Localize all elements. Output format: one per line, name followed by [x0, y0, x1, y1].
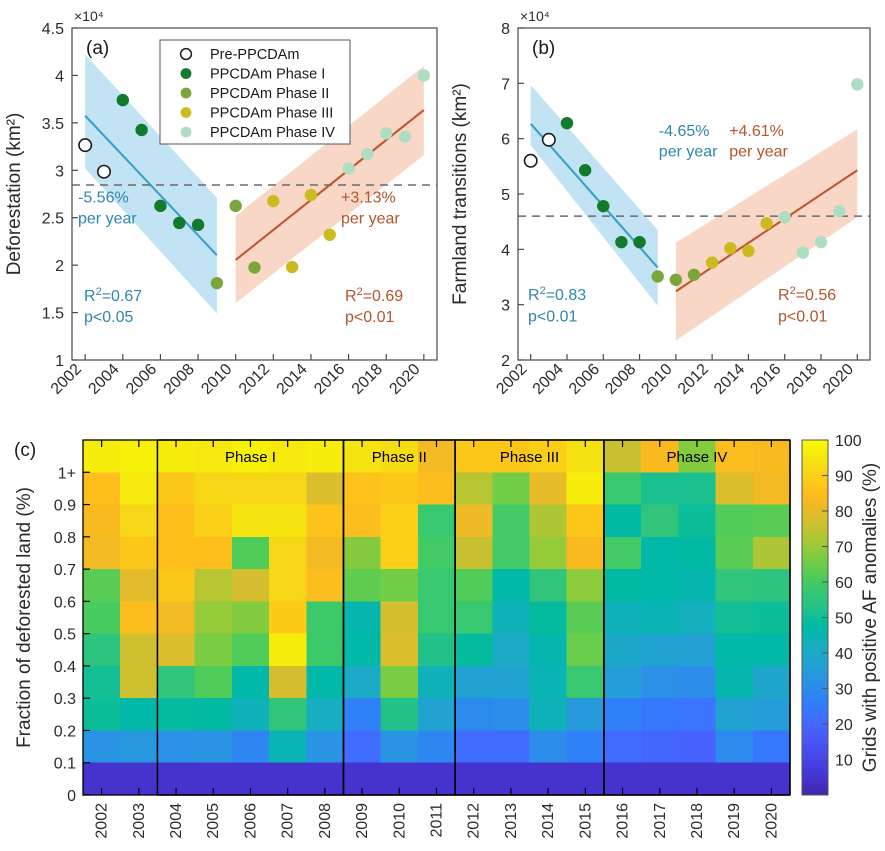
x-tick-label: 2014 [711, 361, 748, 398]
heatmap-cell [83, 472, 121, 505]
phase-label-2: Phase III [500, 449, 559, 466]
panel-c: Phase IPhase IIPhase IIIPhase IV1+0.90.8… [14, 433, 881, 839]
x-tick-label: 2014 [540, 803, 557, 839]
legend-label-0: Pre-PPCDAm [210, 47, 299, 63]
heatmap-cell [753, 537, 791, 570]
x-tick-label: 2009 [354, 803, 371, 839]
heatmap-cell [604, 472, 642, 505]
x-tick-label: 2005 [205, 803, 222, 839]
data-point [579, 164, 591, 176]
x-tick-label: 2007 [280, 803, 297, 839]
heatmap-cell [641, 634, 679, 667]
y-tick-label: 0.6 [54, 594, 76, 611]
x-tick-label: 2006 [242, 803, 259, 839]
heatmap-cell [567, 601, 605, 634]
colorbar-tick-label: 60 [835, 575, 853, 592]
x-tick-label: 2018 [349, 361, 386, 398]
x-tick-label: 2020 [820, 361, 857, 398]
r2-rising: R2=0.56 [778, 285, 836, 304]
heatmap-cell [83, 505, 121, 538]
legend-marker-0[interactable] [181, 49, 192, 60]
heatmap-cell [157, 666, 195, 699]
heatmap-cell [678, 601, 716, 634]
heatmap-cell [269, 537, 307, 570]
heatmap-cell [418, 569, 456, 602]
heatmap-cell [604, 698, 642, 731]
heatmap-cell [120, 698, 158, 731]
heatmap-cell [492, 537, 530, 570]
heatmap-cell [530, 569, 568, 602]
heatmap-cell [232, 569, 270, 602]
heatmap-cell [604, 634, 642, 667]
heatmap-cell [83, 666, 121, 699]
heatmap-cell [641, 537, 679, 570]
legend-box: Pre-PPCDAmPPCDAm Phase IPPCDAm Phase IIP… [160, 40, 350, 144]
x-tick-label: 2003 [131, 803, 148, 839]
data-point [851, 78, 863, 90]
heatmap-cell [716, 634, 754, 667]
heatmap-cell [753, 472, 791, 505]
heatmap-cell [343, 698, 381, 731]
heatmap-cell [716, 666, 754, 699]
heatmap-cell [604, 666, 642, 699]
heatmap-cell [716, 472, 754, 505]
heatmap-cell [232, 537, 270, 570]
heatmap-cell [343, 634, 381, 667]
heatmap-cell [678, 537, 716, 570]
heatmap-cell [120, 730, 158, 763]
data-point [286, 261, 298, 273]
phase-label-3: Phase IV [667, 449, 728, 466]
heatmap-cell [306, 569, 344, 602]
data-point [192, 219, 204, 231]
panel-b: 2345678200220042006200820102012201420162… [450, 8, 870, 398]
heatmap-cell [492, 698, 530, 731]
data-point [724, 242, 736, 254]
heatmap-cell [195, 666, 233, 699]
heatmap-cell [492, 634, 530, 667]
heatmap-cell [381, 634, 419, 667]
heatmap-cell [157, 698, 195, 731]
heatmap-cell [157, 537, 195, 570]
x-tick-label: 2002 [94, 803, 111, 839]
data-point [670, 274, 682, 286]
y-axis-title-c: Fraction of deforested land (%) [14, 487, 35, 748]
heatmap-cell [195, 537, 233, 570]
heatmap-cell [120, 666, 158, 699]
heatmap-cell [455, 472, 493, 505]
heatmap-cell [269, 730, 307, 763]
heatmap-cell [678, 730, 716, 763]
heatmap-cell [381, 601, 419, 634]
data-point [211, 277, 223, 289]
heatmap-cell [195, 472, 233, 505]
legend-label-3: PPCDAm Phase III [210, 106, 333, 122]
data-point [135, 124, 147, 136]
panel-label-panel-b: (b) [532, 38, 555, 59]
phase-label-0: Phase I [225, 449, 276, 466]
heatmap-cell [120, 505, 158, 538]
heatmap-cell [306, 537, 344, 570]
data-point [173, 217, 185, 229]
heatmap-cell [343, 601, 381, 634]
heatmap-cell [604, 601, 642, 634]
colorbar: 102030405060708090100Grids with positive… [802, 433, 881, 796]
heatmap-cell [157, 601, 195, 634]
p-declining: p<0.05 [84, 309, 133, 326]
y-axis-title: Farmland transitions (km²) [450, 83, 471, 305]
legend-label-1: PPCDAm Phase I [210, 67, 325, 83]
legend-label-4: PPCDAm Phase IV [210, 125, 335, 141]
heatmap-cell [567, 472, 605, 505]
x-tick-label: 2019 [726, 803, 743, 839]
heatmap-cell [604, 505, 642, 538]
panel-label-panel-c: (c) [14, 440, 36, 461]
x-tick-label: 2010 [198, 361, 235, 398]
y-tick-label: 8 [501, 21, 510, 38]
heatmap-cell [157, 634, 195, 667]
heatmap-cell [455, 730, 493, 763]
heatmap-cell [716, 601, 754, 634]
data-point [543, 134, 555, 146]
heatmap-cell [641, 698, 679, 731]
rate-label-declining: -5.56% [78, 190, 129, 207]
y-axis-title: Deforestation (km²) [4, 113, 25, 276]
heatmap-cell [157, 730, 195, 763]
heatmap-cell [83, 730, 121, 763]
heatmap-cell [641, 666, 679, 699]
heatmap-cell [232, 472, 270, 505]
x-tick-label: 2012 [236, 361, 273, 398]
heatmap-cell [195, 569, 233, 602]
heatmap-cell [455, 601, 493, 634]
y-tick-label: 2 [55, 258, 64, 275]
colorbar-tick-label: 20 [835, 717, 853, 734]
heatmap-cell [269, 505, 307, 538]
heatmap-cell [157, 505, 195, 538]
x-tick-label: 2016 [311, 361, 348, 398]
heatmap-cell [492, 505, 530, 538]
heatmap-cell [306, 730, 344, 763]
x-tick-label: 2004 [530, 361, 567, 398]
x-tick-label: 2008 [161, 361, 198, 398]
data-point [597, 200, 609, 212]
heatmap-cell [306, 505, 344, 538]
x-tick-label: 2020 [763, 803, 780, 839]
x-tick-label: 2006 [566, 361, 603, 398]
heatmap-cell [753, 505, 791, 538]
heatmap-cell [418, 666, 456, 699]
heatmap-cell [269, 472, 307, 505]
x-tick-label: 2006 [123, 361, 160, 398]
rate-label-declining: -4.65% [659, 123, 710, 140]
heatmap-cell [716, 698, 754, 731]
heatmap-cell [604, 730, 642, 763]
p-rising: p<0.01 [345, 309, 394, 326]
heatmap-cell [753, 634, 791, 667]
rate-unit-rising: per year [729, 143, 788, 160]
heatmap-cell [641, 730, 679, 763]
legend-marker-2[interactable] [181, 88, 192, 99]
heatmap-cell [753, 569, 791, 602]
heatmap-cell [381, 472, 419, 505]
heatmap-cell [269, 666, 307, 699]
heatmap-cell [455, 505, 493, 538]
heatmap-cell [641, 505, 679, 538]
heatmap-cell [306, 698, 344, 731]
rate-unit-declining: per year [659, 143, 718, 160]
y-tick-label: 0.8 [54, 530, 76, 547]
x-tick-label: 2013 [503, 803, 520, 839]
heatmap-cell [269, 601, 307, 634]
data-point [380, 127, 392, 139]
heatmap-cells [83, 440, 791, 796]
heatmap-cell [604, 537, 642, 570]
heatmap-cell [381, 537, 419, 570]
heatmap-cell [232, 634, 270, 667]
data-point [797, 246, 809, 258]
y-tick-label: 0.7 [54, 562, 76, 579]
x-tick-label: 2012 [466, 803, 483, 839]
heatmap-cell [492, 730, 530, 763]
x-tick-label: 2008 [602, 361, 639, 398]
data-point [267, 195, 279, 207]
y-tick-label: 3 [501, 298, 510, 315]
y-tick-label: 1+ [58, 465, 76, 482]
heatmap-cell [455, 698, 493, 731]
heatmap-cell [418, 505, 456, 538]
data-point [79, 139, 91, 151]
colorbar-title: Grids with positive AF anomalies (%) [860, 463, 881, 772]
heatmap-cell [530, 666, 568, 699]
heatmap-cell [269, 634, 307, 667]
y-tick-label: 4.5 [42, 21, 64, 38]
heatmap-cell [530, 601, 568, 634]
colorbar-tick-label: 30 [835, 682, 853, 699]
heatmap-cell [530, 505, 568, 538]
heatmap-cell [269, 569, 307, 602]
heatmap-cell [120, 601, 158, 634]
x-tick-label: 2016 [747, 361, 784, 398]
x-tick-label: 2011 [429, 803, 446, 838]
heatmap-cell [381, 666, 419, 699]
heatmap-cell [381, 698, 419, 731]
heatmap-cell [195, 634, 233, 667]
y-tick-label: 5 [501, 187, 510, 204]
rate-unit-declining: per year [78, 210, 137, 227]
heatmap-cell [567, 505, 605, 538]
rate-unit-rising: per year [341, 210, 400, 227]
y-tick-label: 2 [501, 353, 510, 370]
y-tick-label: 7 [501, 76, 510, 93]
y-tick-label: 0.9 [54, 498, 76, 515]
x-tick-label: 2008 [317, 803, 334, 839]
heatmap-cell [753, 666, 791, 699]
heatmap-cell [343, 730, 381, 763]
x-tick-label: 2014 [274, 361, 311, 398]
y-tick-label: 4 [501, 242, 510, 259]
heatmap-cell [120, 569, 158, 602]
heatmap-cell [604, 569, 642, 602]
heatmap-cell [195, 505, 233, 538]
x-tick-label: 2010 [638, 361, 675, 398]
colorbar-tick-label: 50 [835, 611, 853, 628]
y-tick-label: 0.4 [54, 659, 76, 676]
data-point [615, 236, 627, 248]
heatmap-cell [641, 601, 679, 634]
y-tick-label: 0.2 [54, 723, 76, 740]
heatmap-cell [232, 730, 270, 763]
heatmap-cell [83, 537, 121, 570]
y-tick-label: 1.5 [42, 306, 64, 323]
y-tick-label: 3.5 [42, 116, 64, 133]
heatmap-cell [83, 698, 121, 731]
heatmap-cell [753, 601, 791, 634]
legend-marker-4[interactable] [181, 127, 192, 138]
phase-label-1: Phase II [372, 449, 427, 466]
heatmap-cell [753, 730, 791, 763]
heatmap-cell [455, 537, 493, 570]
heatmap-cell [232, 601, 270, 634]
heatmap-cell [716, 730, 754, 763]
data-point [305, 189, 317, 201]
heatmap-cell [567, 698, 605, 731]
heatmap-cell [641, 472, 679, 505]
heatmap-cell [567, 730, 605, 763]
y-tick-label: 6 [501, 132, 510, 149]
legend-marker-3[interactable] [181, 107, 192, 118]
p-rising: p<0.01 [778, 308, 827, 325]
legend-label-2: PPCDAm Phase II [210, 86, 329, 102]
heatmap-cell [567, 634, 605, 667]
data-point [342, 162, 354, 174]
heatmap-cell [418, 698, 456, 731]
data-point [525, 155, 537, 167]
data-point [248, 261, 260, 273]
heatmap-cell [306, 601, 344, 634]
data-point [633, 236, 645, 248]
heatmap-cell [530, 472, 568, 505]
heatmap-cell [306, 666, 344, 699]
heatmap-cell [678, 472, 716, 505]
heatmap-cell [83, 601, 121, 634]
heatmap-cell [492, 666, 530, 699]
heatmap-cell [120, 472, 158, 505]
x-tick-label: 2004 [168, 803, 185, 839]
heatmap-cell [418, 634, 456, 667]
data-point [833, 205, 845, 217]
p-declining: p<0.01 [528, 308, 577, 325]
data-point [399, 130, 411, 142]
x-tick-label: 2004 [85, 361, 122, 398]
heatmap-cell [678, 569, 716, 602]
heatmap-cell [195, 601, 233, 634]
data-point [706, 256, 718, 268]
data-point [154, 200, 166, 212]
heatmap-cell [418, 472, 456, 505]
heatmap-cell [343, 666, 381, 699]
heatmap-cell [492, 601, 530, 634]
data-point [561, 117, 573, 129]
heatmap-cell [455, 634, 493, 667]
heatmap-cell [567, 666, 605, 699]
data-point [418, 69, 430, 81]
heatmap-cell [716, 569, 754, 602]
r2-declining: R2=0.67 [84, 286, 142, 305]
x-tick-label: 2016 [615, 803, 632, 839]
data-point [361, 148, 373, 160]
x-tick-label: 2020 [386, 361, 423, 398]
heatmap-cell [567, 569, 605, 602]
y-tick-label: 2.5 [42, 211, 64, 228]
heatmap-cell [306, 634, 344, 667]
heatmap-cell [753, 698, 791, 731]
y-tick-label: 0.1 [54, 756, 76, 773]
colorbar-tick-label: 80 [835, 504, 853, 521]
colorbar-tick-label: 40 [835, 646, 853, 663]
heatmap-cell [120, 537, 158, 570]
y-tick-label: 3 [55, 163, 64, 180]
heatmap-cell [120, 634, 158, 667]
heatmap-cell [343, 472, 381, 505]
heatmap-cell [678, 634, 716, 667]
data-point [815, 236, 827, 248]
x-tick-label: 2018 [689, 803, 706, 839]
data-point [779, 211, 791, 223]
colorbar-tick-label: 100 [835, 433, 862, 450]
heatmap-cell [530, 730, 568, 763]
heatmap-cell [418, 730, 456, 763]
heatmap-cell [343, 569, 381, 602]
heatmap-cell [343, 505, 381, 538]
figure-root: 11.522.533.544.5200220042006200820102012… [0, 0, 885, 851]
r2-declining: R2=0.83 [528, 285, 586, 304]
data-point [652, 270, 664, 282]
heatmap-cell [232, 666, 270, 699]
figure-canvas: 11.522.533.544.5200220042006200820102012… [0, 0, 885, 851]
heatmap-cell [195, 698, 233, 731]
x-tick-label: 2002 [48, 361, 85, 398]
heatmap-cell [418, 601, 456, 634]
data-point [229, 200, 241, 212]
x-tick-label: 2012 [675, 361, 712, 398]
heatmap-cell [269, 698, 307, 731]
heatmap-cell [492, 472, 530, 505]
heatmap-cell [678, 505, 716, 538]
heatmap-cell [716, 537, 754, 570]
heatmap-cell [381, 730, 419, 763]
x-tick-label: 2017 [652, 803, 669, 839]
data-point [98, 166, 110, 178]
y-axis-exponent: ×10⁴ [74, 8, 104, 24]
heatmap-cell [157, 569, 195, 602]
heatmap-cell [83, 569, 121, 602]
heatmap-cell [157, 472, 195, 505]
legend-marker-1[interactable] [181, 68, 192, 79]
heatmap-cell [641, 569, 679, 602]
data-point [117, 94, 129, 106]
heatmap-cell [455, 666, 493, 699]
heatmap-cell [678, 666, 716, 699]
heatmap-cell [678, 698, 716, 731]
heatmap-cell [530, 698, 568, 731]
y-axis-exponent: ×10⁴ [520, 8, 550, 24]
x-tick-label: 2002 [493, 361, 530, 398]
y-tick-label: 0.3 [54, 691, 76, 708]
y-tick-label: 1 [55, 353, 64, 370]
data-point [688, 269, 700, 281]
r2-rising: R2=0.69 [345, 286, 403, 305]
